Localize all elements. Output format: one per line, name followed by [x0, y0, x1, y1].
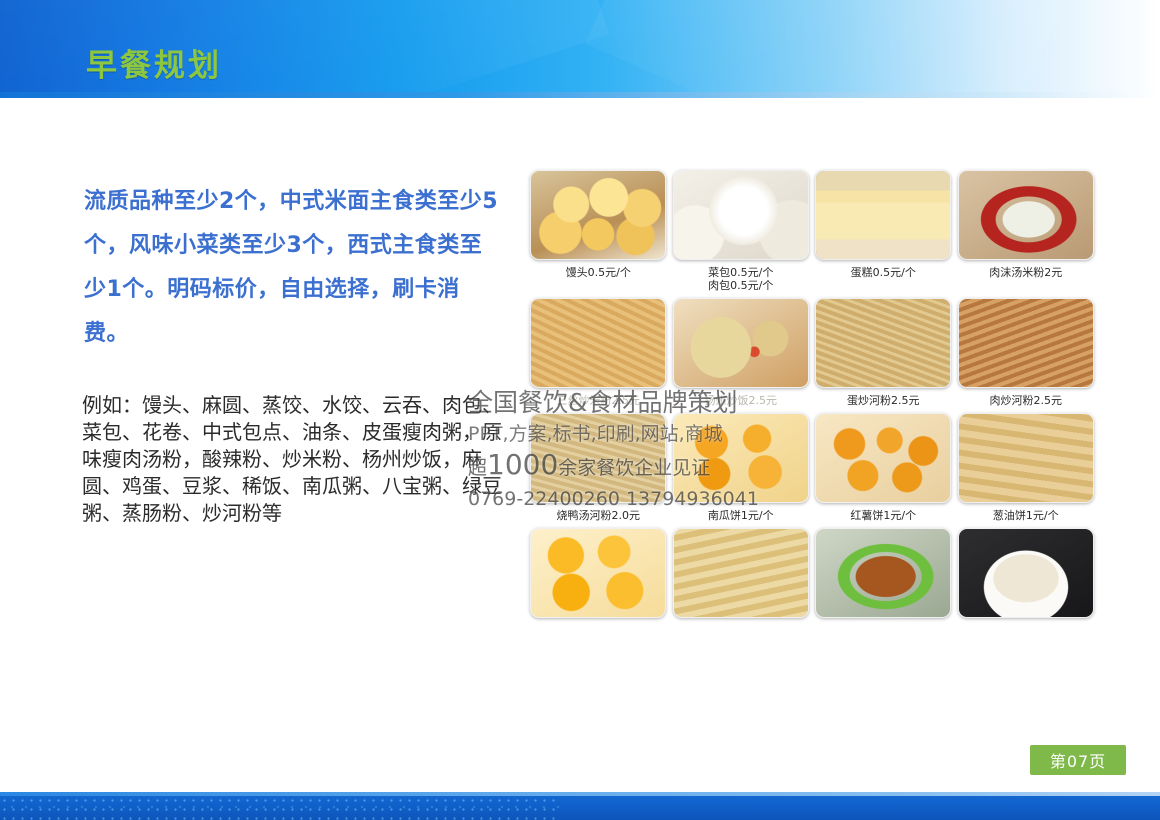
pumpkin-cake-plate-image	[531, 529, 665, 617]
slide-footer	[0, 792, 1160, 820]
scallion-pancake-image	[959, 414, 1093, 502]
food-item[interactable]: 南瓜饼1元/个	[670, 413, 813, 522]
food-caption: 肉沫汤米粉2元	[989, 266, 1062, 279]
caption-line-1: 蛋炒河粉2.5元	[847, 394, 920, 407]
sweet-potato-cake-image	[816, 414, 950, 502]
food-caption: 肉炒河粉2.5元	[990, 394, 1063, 407]
caption-line-1: 菜包0.5元/个	[708, 266, 773, 279]
food-item[interactable]	[527, 528, 670, 618]
food-item[interactable]: 肉沫汤米粉2元	[955, 170, 1098, 292]
food-item[interactable]: 蛋炒河粉2.5元	[812, 298, 955, 407]
food-thumbnail[interactable]	[530, 170, 666, 260]
caption-line-1: 烧鸭汤河粉2.0元	[557, 509, 641, 522]
page-title: 早餐规划	[86, 40, 222, 85]
food-thumbnail[interactable]	[673, 170, 809, 260]
food-caption: 馒头0.5元/个	[566, 266, 631, 279]
food-thumbnail[interactable]	[815, 298, 951, 388]
food-caption: 葱油饼1元/个	[993, 509, 1059, 522]
food-thumbnail[interactable]	[530, 413, 666, 503]
egg-fried-flat-noodle-image	[816, 299, 950, 387]
food-thumbnail[interactable]	[673, 528, 809, 618]
food-photo-grid: 馒头0.5元/个 菜包0.5元/个肉包0.5元/个 蛋糕0.5元/个 肉沫汤米粉…	[527, 170, 1097, 624]
footer-dot-pattern	[0, 796, 560, 820]
food-thumbnail[interactable]	[815, 170, 951, 260]
sponge-cake-image	[816, 171, 950, 259]
food-caption: 烧鸭汤河粉2.0元	[557, 509, 641, 522]
caption-line-1: 葱油饼1元/个	[993, 509, 1059, 522]
caption-line-1: 肉炒河粉2.5元	[990, 394, 1063, 407]
food-thumbnail[interactable]	[673, 298, 809, 388]
food-thumbnail[interactable]	[958, 528, 1094, 618]
steamed-bun-mantou-image	[531, 171, 665, 259]
food-item[interactable]: 葱油饼1元/个	[955, 413, 1098, 522]
caption-line-1: 扬州炒饭2.5元	[705, 394, 778, 407]
food-thumbnail[interactable]	[815, 528, 951, 618]
food-caption: 蛋糕0.5元/个	[851, 266, 916, 279]
lead-paragraph: 流质品种至少2个，中式米面主食类至少5个，风味小菜类至少3个，西式主食类至少1个…	[84, 180, 504, 356]
food-caption: 扬州炒饭2.5元	[705, 394, 778, 407]
food-item[interactable]	[955, 528, 1098, 618]
food-thumbnail[interactable]	[815, 413, 951, 503]
pork-fried-flat-noodle-image	[959, 299, 1093, 387]
food-thumbnail[interactable]	[958, 170, 1094, 260]
caption-line-1: 三丝炒米粉2.5元	[557, 394, 641, 407]
food-thumbnail[interactable]	[958, 413, 1094, 503]
food-caption: 南瓜饼1元/个	[708, 509, 774, 522]
food-caption: 三丝炒米粉2.5元	[557, 394, 641, 407]
layered-pancake-image	[674, 529, 808, 617]
food-item[interactable]: 馒头0.5元/个	[527, 170, 670, 292]
food-item[interactable]	[812, 528, 955, 618]
caption-line-1: 红薯饼1元/个	[850, 509, 916, 522]
caption-line-1: 蛋糕0.5元/个	[851, 266, 916, 279]
photo-row: 馒头0.5元/个 菜包0.5元/个肉包0.5元/个 蛋糕0.5元/个 肉沫汤米粉…	[527, 170, 1097, 292]
food-item[interactable]: 三丝炒米粉2.5元	[527, 298, 670, 407]
eight-treasure-porridge-image	[816, 529, 950, 617]
caption-line-1: 南瓜饼1元/个	[708, 509, 774, 522]
food-item[interactable]: 菜包0.5元/个肉包0.5元/个	[670, 170, 813, 292]
caption-line-2: 肉包0.5元/个	[708, 279, 773, 292]
food-item[interactable]: 扬州炒饭2.5元	[670, 298, 813, 407]
food-thumbnail[interactable]	[673, 413, 809, 503]
food-item[interactable]: 蛋糕0.5元/个	[812, 170, 955, 292]
food-item[interactable]: 烧鸭汤河粉2.0元	[527, 413, 670, 522]
caption-line-1: 肉沫汤米粉2元	[989, 266, 1062, 279]
food-item[interactable]: 肉炒河粉2.5元	[955, 298, 1098, 407]
photo-row: 三丝炒米粉2.5元 扬州炒饭2.5元 蛋炒河粉2.5元 肉炒河粉2.5元	[527, 298, 1097, 407]
page-number-badge: 第07页	[1030, 745, 1126, 775]
caption-line-1: 馒头0.5元/个	[566, 266, 631, 279]
food-thumbnail[interactable]	[958, 298, 1094, 388]
examples-paragraph: 例如：馒头、麻圆、蒸饺、水饺、云吞、肉包、菜包、花卷、中式包点、油条、皮蛋瘦肉粥…	[82, 392, 512, 527]
photo-row: 烧鸭汤河粉2.0元 南瓜饼1元/个 红薯饼1元/个 葱油饼1元/个	[527, 413, 1097, 522]
minced-pork-rice-noodle-soup-image	[959, 171, 1093, 259]
food-item[interactable]	[670, 528, 813, 618]
roast-duck-noodle-soup-image	[531, 414, 665, 502]
photo-row	[527, 528, 1097, 618]
pumpkin-pancake-image	[674, 414, 808, 502]
food-item[interactable]: 红薯饼1元/个	[812, 413, 955, 522]
header-divider-rule	[0, 92, 1160, 98]
shredded-fried-rice-noodle-image	[531, 299, 665, 387]
fried-rice-image	[674, 299, 808, 387]
food-thumbnail[interactable]	[530, 298, 666, 388]
food-caption: 蛋炒河粉2.5元	[847, 394, 920, 407]
food-caption: 红薯饼1元/个	[850, 509, 916, 522]
slide: 早餐规划 流质品种至少2个，中式米面主食类至少5个，风味小菜类至少3个，西式主食…	[0, 0, 1160, 820]
food-thumbnail[interactable]	[530, 528, 666, 618]
steamed-stuffed-bun-baozi-image	[674, 171, 808, 259]
header-light-streak-right	[585, 0, 1074, 98]
food-caption: 菜包0.5元/个肉包0.5元/个	[708, 266, 773, 292]
rice-porridge-image	[959, 529, 1093, 617]
